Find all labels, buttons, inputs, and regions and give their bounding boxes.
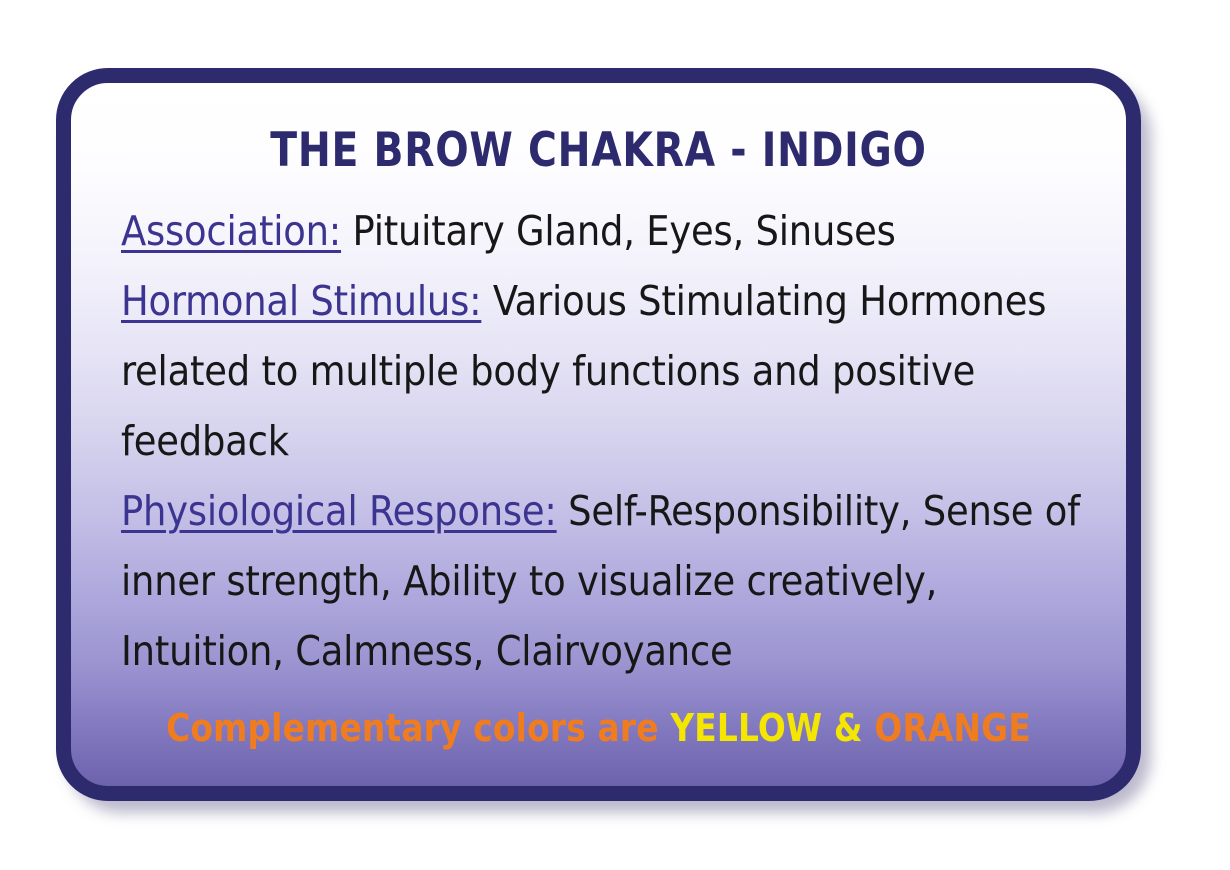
complementary-colors-note: Complementary colors are YELLOW & ORANGE bbox=[92, 706, 1105, 750]
chakra-info-card: THE BROW CHAKRA - INDIGO Association: Pi… bbox=[56, 68, 1141, 801]
association-label: Association: bbox=[121, 207, 341, 255]
list-item-hormonal-stimulus: Hormonal Stimulus: Various Stimulating H… bbox=[121, 266, 1098, 476]
page-title: THE BROW CHAKRA - INDIGO bbox=[134, 83, 1063, 174]
complementary-color-one: YELLOW bbox=[670, 706, 822, 750]
list-item-physiological-response: Physiological Response: Self-Responsibil… bbox=[121, 476, 1098, 686]
slide-canvas: THE BROW CHAKRA - INDIGO Association: Pi… bbox=[0, 0, 1230, 870]
card-content: THE BROW CHAKRA - INDIGO Association: Pi… bbox=[71, 83, 1126, 786]
complementary-conjunction: & bbox=[822, 706, 874, 750]
list-item-association: Association: Pituitary Gland, Eyes, Sinu… bbox=[121, 196, 1098, 266]
association-value: Pituitary Gland, Eyes, Sinuses bbox=[341, 207, 896, 255]
complementary-lead-text: Complementary colors are bbox=[166, 706, 670, 750]
chakra-attribute-list: Association: Pituitary Gland, Eyes, Sinu… bbox=[99, 174, 1098, 686]
hormonal-stimulus-label: Hormonal Stimulus: bbox=[121, 277, 481, 325]
complementary-color-two: ORANGE bbox=[874, 706, 1031, 750]
physiological-response-label: Physiological Response: bbox=[121, 487, 557, 535]
